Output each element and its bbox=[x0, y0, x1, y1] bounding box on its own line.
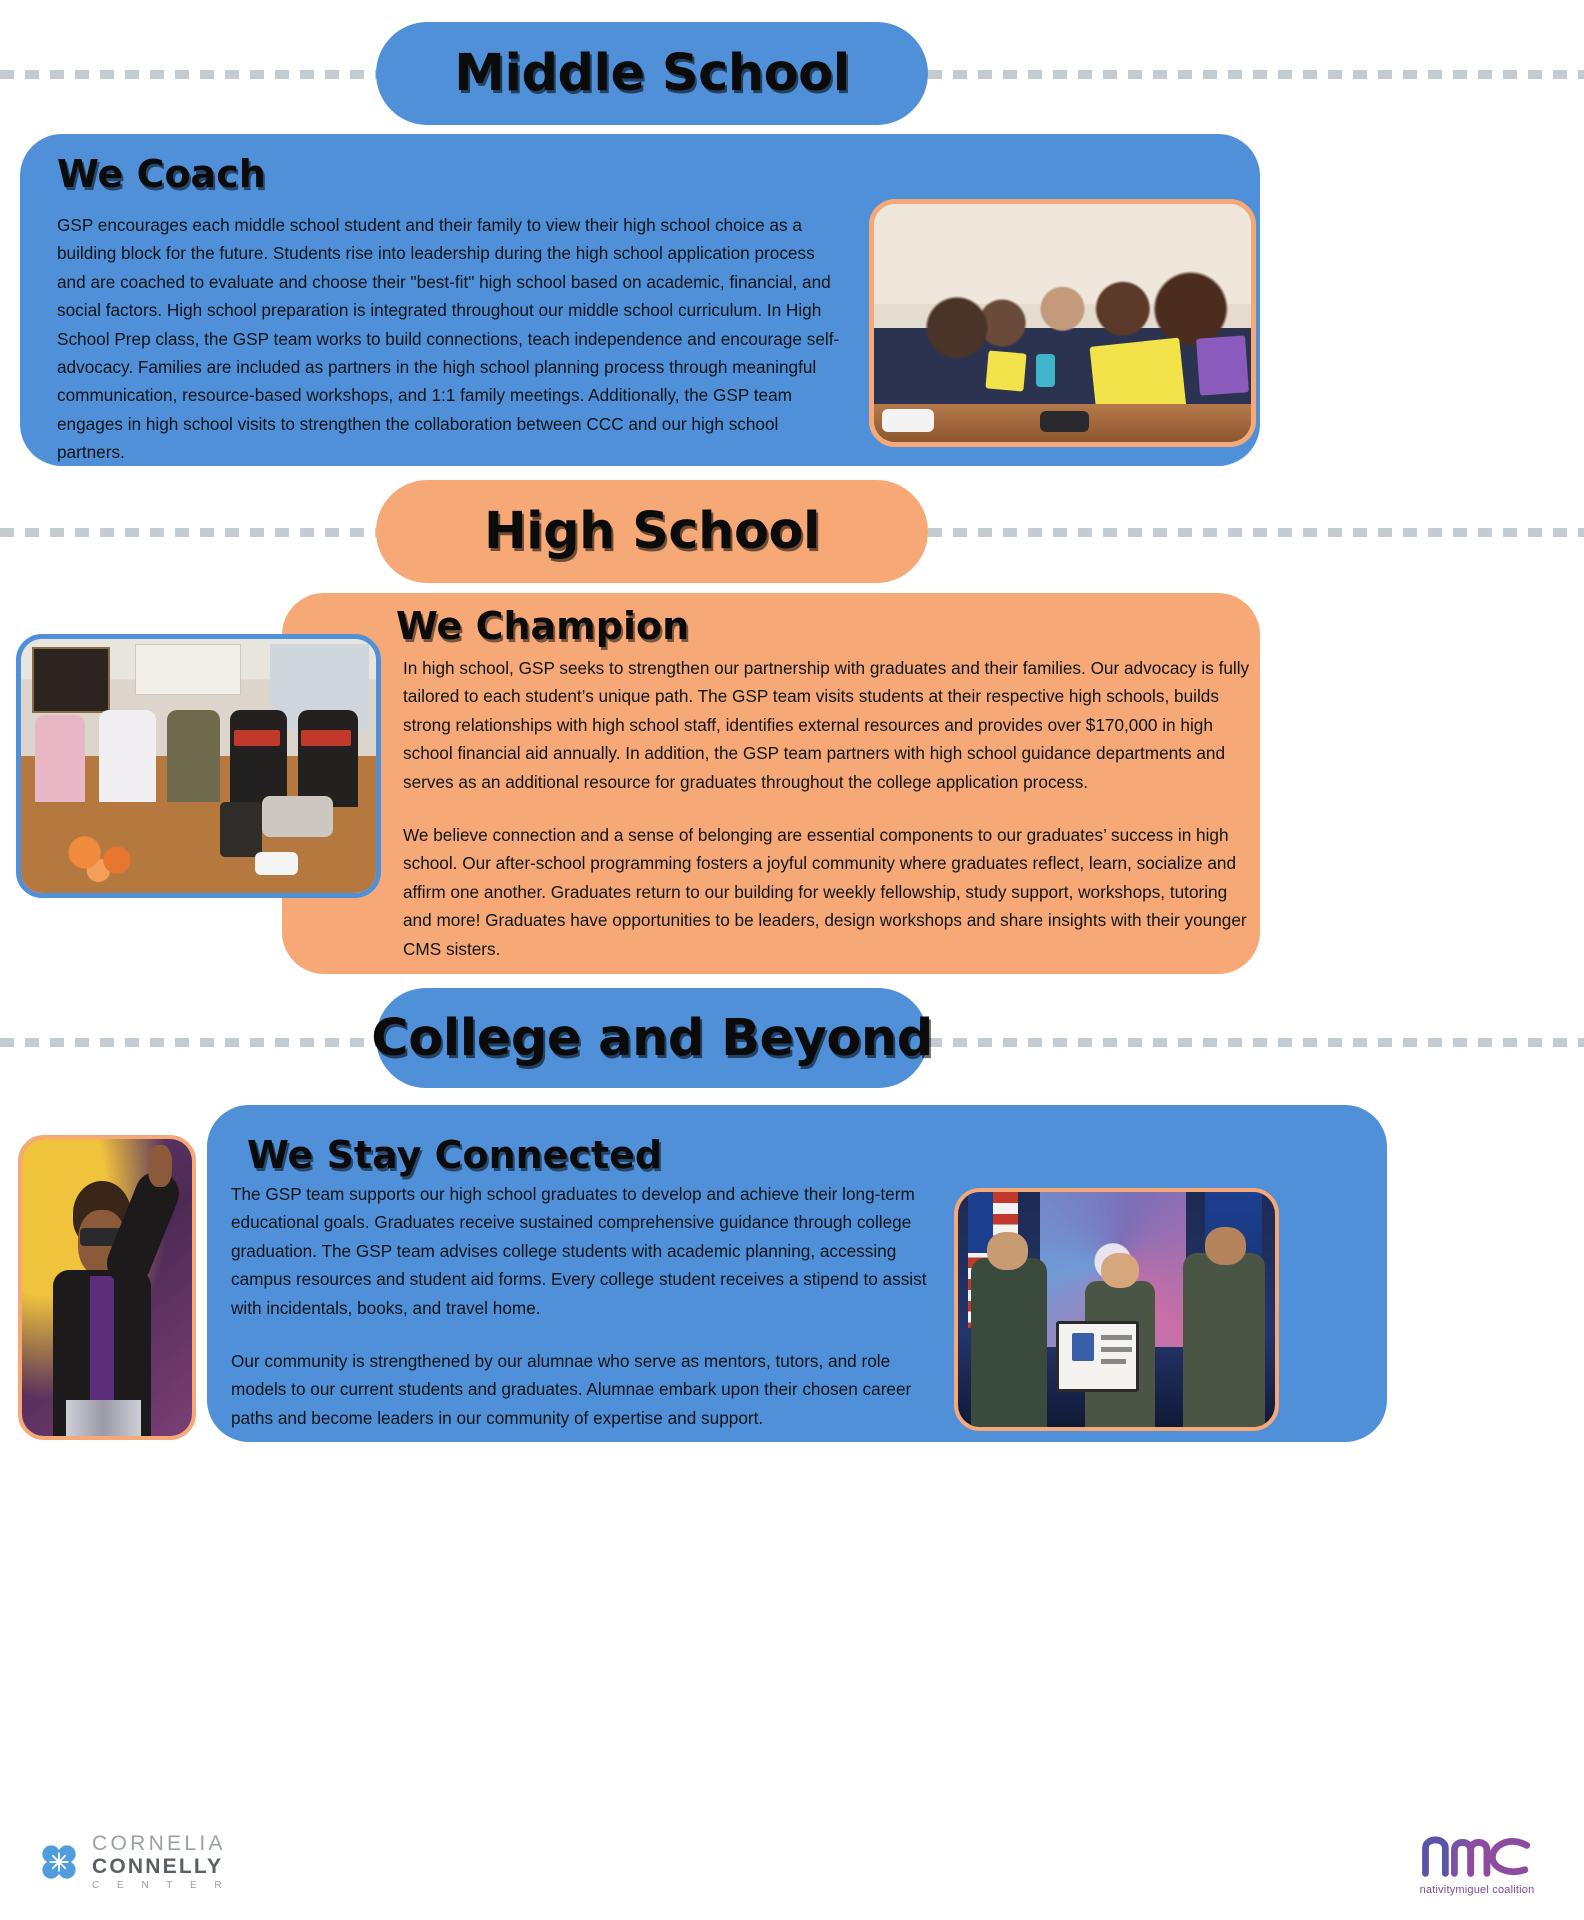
paragraph: Our community is strengthened by our alu… bbox=[231, 1347, 946, 1432]
paragraph: In high school, GSP seeks to strengthen … bbox=[403, 654, 1251, 796]
high-school-graduates-circle-photo bbox=[16, 634, 381, 898]
banner-college-and-beyond: College and Beyond bbox=[376, 988, 928, 1088]
dash-rule-right-college bbox=[928, 1038, 1584, 1047]
banner-high-school: High School bbox=[376, 480, 928, 583]
body-we-stay-connected: The GSP team supports our high school gr… bbox=[231, 1180, 946, 1432]
middle-school-students-photo bbox=[869, 199, 1256, 447]
nativitymiguel-coalition-logo: nativitymiguel coalition bbox=[1418, 1830, 1536, 1896]
cornelia-connelly-center-logo: CORNELIA CONNELLY C E N T E R bbox=[38, 1833, 229, 1891]
paragraph: We believe connection and a sense of bel… bbox=[403, 821, 1251, 963]
dash-rule-right-middle-school bbox=[928, 70, 1584, 79]
body-we-champion: In high school, GSP seeks to strengthen … bbox=[403, 654, 1251, 963]
paragraph: GSP encourages each middle school studen… bbox=[57, 211, 847, 467]
nmc-wordmark: nativitymiguel coalition bbox=[1420, 1884, 1535, 1896]
banner-middle-school: Middle School bbox=[376, 22, 928, 125]
college-graduate-photo bbox=[18, 1135, 196, 1440]
dash-rule-left-college bbox=[0, 1038, 378, 1047]
ccc-logo-line-2: CONNELLY bbox=[92, 1856, 229, 1877]
body-we-coach: GSP encourages each middle school studen… bbox=[57, 211, 847, 467]
air-force-award-photo bbox=[954, 1188, 1279, 1431]
dash-rule-left-high-school bbox=[0, 528, 378, 537]
banner-college-and-beyond-label: College and Beyond bbox=[371, 1009, 932, 1068]
nmc-monogram-icon bbox=[1418, 1830, 1536, 1882]
ccc-logo-line-1: CORNELIA bbox=[92, 1833, 229, 1854]
banner-middle-school-label: Middle School bbox=[454, 44, 849, 103]
heading-we-stay-connected: We Stay Connected bbox=[247, 1133, 662, 1177]
heading-we-coach: We Coach bbox=[57, 152, 266, 196]
heading-we-champion: We Champion bbox=[396, 604, 689, 648]
infographic-page: Middle School We Coach GSP encourages ea… bbox=[0, 0, 1584, 1920]
banner-high-school-label: High School bbox=[484, 502, 820, 561]
dash-rule-left-middle-school bbox=[0, 70, 378, 79]
ccc-logo-line-3: C E N T E R bbox=[92, 1881, 229, 1891]
paragraph: The GSP team supports our high school gr… bbox=[231, 1180, 946, 1322]
connelly-flower-icon bbox=[38, 1841, 80, 1883]
dash-rule-right-high-school bbox=[928, 528, 1584, 537]
